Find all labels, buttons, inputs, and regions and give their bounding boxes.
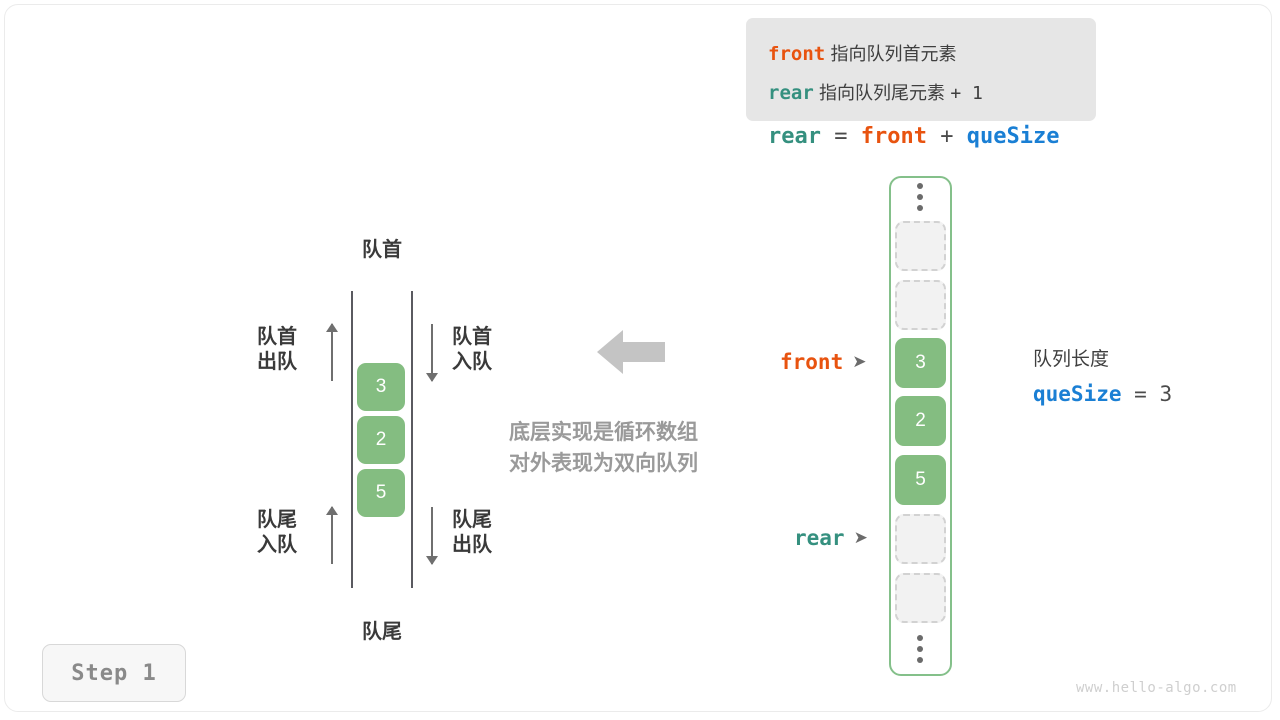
legend-rear-offset: + 1 (950, 83, 983, 104)
front-pointer-text: front (780, 350, 843, 374)
queue-size-annotation: 队列长度 queSize = 3 (1033, 344, 1172, 405)
arrow-tail-pop-icon (425, 507, 439, 564)
formula-plus: + (940, 124, 953, 149)
legend-row-front: front 指向队列首元素 (768, 45, 956, 64)
queue-size-expression: queSize = 3 (1033, 384, 1172, 405)
rear-pointer-text: rear (794, 526, 845, 550)
op-label-head-push-line2: 入队 (452, 350, 492, 375)
queue-size-name: queSize (1033, 382, 1122, 406)
deque-cell-0[interactable]: 3 (357, 363, 405, 411)
step-badge: Step 1 (42, 644, 186, 702)
array-cell-6[interactable] (895, 573, 946, 623)
diagram-canvas: front 指向队列首元素 rear 指向队列尾元素 + 1 rear = fr… (4, 4, 1272, 712)
op-label-tail-pop-line1: 队尾 (452, 508, 492, 533)
front-pointer-arrow-icon: ➤ (852, 352, 866, 373)
op-label-head-pop-line1: 队首 (257, 325, 297, 350)
formula-front: front (861, 124, 927, 149)
op-label-head-pop-line2: 出队 (257, 350, 297, 375)
array-cell-2[interactable]: 3 (895, 338, 946, 388)
array-cell-5[interactable] (895, 514, 946, 564)
front-pointer-label: front➤ (780, 352, 866, 373)
op-label-head-pop: 队首 出队 (257, 325, 297, 375)
legend-row-rear: rear 指向队列尾元素 + 1 (768, 84, 983, 103)
queue-size-title: 队列长度 (1033, 344, 1172, 371)
queue-size-equals: = (1134, 382, 1147, 406)
op-label-tail-push-line2: 入队 (257, 533, 297, 558)
arrow-tail-push-icon (325, 507, 339, 564)
array-top-ellipsis-icon (914, 183, 926, 217)
deque-head-label: 队首 (362, 233, 402, 262)
implementation-note: 底层实现是循环数组 对外表现为双向队列 (509, 417, 698, 479)
rear-formula: rear = front + queSize (768, 126, 1059, 148)
rear-pointer-label: rear➤ (794, 528, 868, 549)
op-label-tail-push-line1: 队尾 (257, 508, 297, 533)
pointer-legend-box: front 指向队列首元素 rear 指向队列尾元素 + 1 (746, 18, 1096, 121)
deque-left-rail (351, 291, 353, 588)
deque-right-rail (411, 291, 413, 588)
implementation-note-line1: 底层实现是循环数组 (509, 417, 698, 448)
deque-cell-1[interactable]: 2 (357, 416, 405, 464)
array-bottom-ellipsis-icon (914, 635, 926, 669)
array-cell-0[interactable] (895, 221, 946, 271)
arrow-head-pop-icon (325, 324, 339, 381)
op-label-tail-pop: 队尾 出队 (452, 508, 492, 558)
op-label-tail-pop-line2: 出队 (452, 533, 492, 558)
rear-pointer-arrow-icon: ➤ (854, 528, 868, 549)
array-cell-3[interactable]: 2 (895, 396, 946, 446)
arrow-head-push-icon (425, 324, 439, 381)
array-cell-1[interactable] (895, 280, 946, 330)
implementation-note-line2: 对外表现为双向队列 (509, 448, 698, 479)
deque-cell-2[interactable]: 5 (357, 469, 405, 517)
formula-rear: rear (768, 124, 821, 149)
op-label-tail-push: 队尾 入队 (257, 508, 297, 558)
legend-front-keyword: front (768, 43, 825, 65)
queue-size-value: 3 (1159, 382, 1172, 406)
op-label-head-push: 队首 入队 (452, 325, 492, 375)
legend-rear-keyword: rear (768, 82, 814, 104)
formula-equals: = (834, 124, 847, 149)
array-cell-4[interactable]: 5 (895, 455, 946, 505)
site-watermark: www.hello-algo.com (1076, 680, 1237, 696)
mapping-arrow-icon (597, 328, 665, 376)
legend-rear-description: 指向队列尾元素 (819, 83, 945, 103)
op-label-head-push-line1: 队首 (452, 325, 492, 350)
legend-front-description: 指向队列首元素 (830, 44, 956, 64)
formula-quesize: queSize (967, 124, 1060, 149)
deque-tail-label: 队尾 (362, 615, 402, 644)
